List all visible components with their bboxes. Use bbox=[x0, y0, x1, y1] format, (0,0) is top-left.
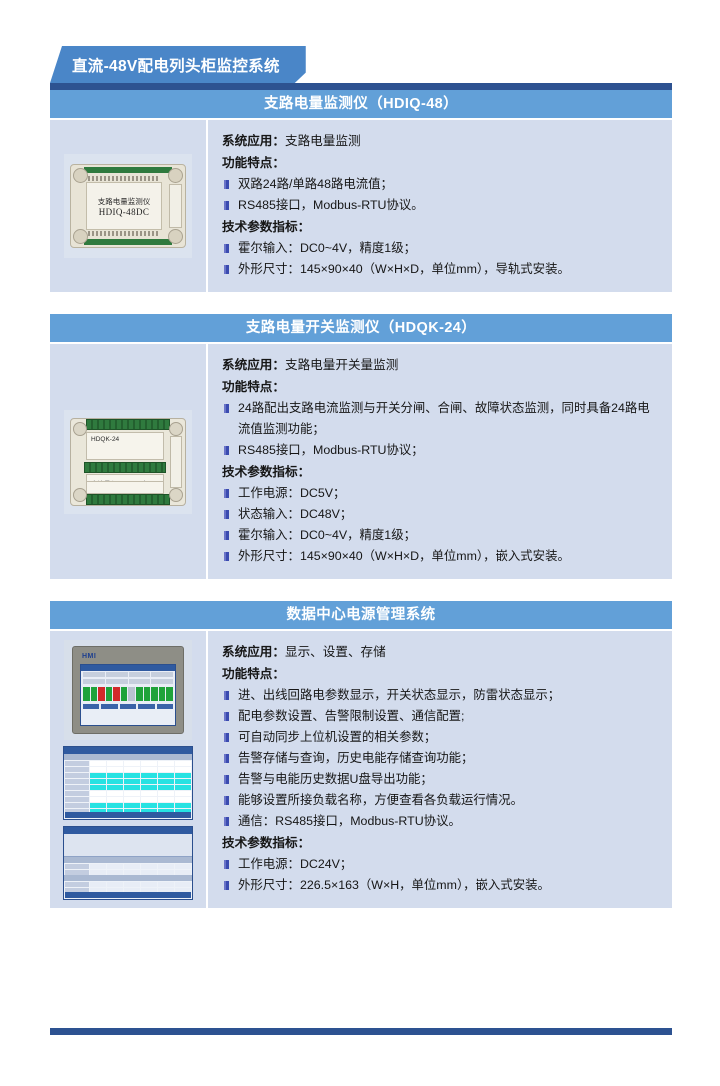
section-header-hdiq-48: 支路电量监测仪（HDIQ-48） bbox=[50, 90, 672, 118]
feature-item: 告警与电能历史数据U盘导出功能； bbox=[222, 769, 658, 790]
settings-column-header bbox=[64, 857, 192, 863]
features-label: 功能特点： bbox=[222, 152, 658, 174]
hmi-chip bbox=[106, 679, 128, 684]
bullet-square-icon bbox=[224, 265, 229, 274]
bullet-square-icon bbox=[224, 201, 229, 210]
feature-item: 能够设置所接负载名称，方便查看各负载运行情况。 bbox=[222, 790, 658, 811]
device-bottom-connector bbox=[84, 239, 172, 245]
hmi-chip bbox=[151, 679, 173, 684]
section-body-hdqk-24: HDQK-24 电流量程：100A/路 系统应用：支路电量开关量监测 功能特点：… bbox=[50, 342, 672, 579]
hmi-touch-panel-photo: HMI bbox=[64, 640, 192, 740]
table-row-label bbox=[65, 803, 89, 808]
feature-item: 24路配出支路电流监测与开关分闸、合闸、故障状态监测，同时具备24路电流值监测功… bbox=[222, 398, 658, 440]
spec-item: 状态输入：DC48V； bbox=[222, 504, 658, 525]
spec-item: 工作电源：DC5V； bbox=[222, 483, 658, 504]
settings-row bbox=[64, 870, 192, 875]
hmi-chip bbox=[83, 679, 105, 684]
device-side-slot bbox=[169, 184, 182, 228]
hmi-chip bbox=[83, 672, 105, 677]
feature-text: 可自动同步上位机设置的相关参数； bbox=[238, 727, 658, 748]
feature-item: RS485接口，Modbus-RTU协议； bbox=[222, 440, 658, 461]
bullet-square-icon bbox=[224, 817, 229, 826]
section-header-hdqk-24: 支路电量开关监测仪（HDQK-24） bbox=[50, 314, 672, 342]
table-row-highlighted bbox=[64, 803, 192, 808]
section-body-hdiq-48: 支路电量监测仪 HDIQ-48DC 系统应用：支路电量监测 功能特点： 双路24… bbox=[50, 118, 672, 292]
table-row bbox=[64, 767, 192, 772]
feature-text: 告警与电能历史数据U盘导出功能； bbox=[238, 769, 658, 790]
hdqk-24-device-photo: HDQK-24 电流量程：100A/路 bbox=[64, 410, 192, 514]
device-mount-lug-tl bbox=[73, 422, 87, 436]
feature-item: RS485接口，Modbus-RTU协议。 bbox=[222, 195, 658, 216]
device-label-plate: HDQK-24 bbox=[86, 432, 164, 460]
bullet-square-icon bbox=[224, 552, 229, 561]
settings-row bbox=[64, 882, 192, 887]
table-column-header bbox=[64, 754, 192, 760]
page-footer-rule bbox=[50, 1028, 672, 1035]
device-top-connector bbox=[84, 167, 172, 173]
hmi-bar-idle bbox=[128, 687, 135, 701]
settings-row-label bbox=[65, 870, 89, 875]
device-side-slot bbox=[170, 436, 182, 488]
bullet-square-icon bbox=[224, 881, 229, 890]
hmi-nav-button bbox=[83, 704, 99, 709]
hdiq-48dc-device-photo: 支路电量监测仪 HDIQ-48DC bbox=[64, 154, 192, 258]
device-mount-lug-tr bbox=[168, 168, 183, 183]
table-row bbox=[64, 797, 192, 802]
spec-text: 霍尔输入：DC0~4V，精度1级； bbox=[238, 525, 658, 546]
hmi-chip bbox=[129, 679, 151, 684]
specs-label: 技术参数指标： bbox=[222, 832, 658, 854]
spec-item: 外形尺寸：145×90×40（W×H×D，单位mm），导轨式安装。 bbox=[222, 259, 658, 280]
bullet-square-icon bbox=[224, 775, 229, 784]
spec-item: 外形尺寸：226.5×163（W×H，单位mm），嵌入式安装。 bbox=[222, 875, 658, 896]
product-image-cell-hdiq-48: 支路电量监测仪 HDIQ-48DC bbox=[50, 120, 208, 292]
feature-text: 能够设置所接负载名称，方便查看各负载运行情况。 bbox=[238, 790, 658, 811]
device-label-line1: 支路电量监测仪 bbox=[98, 196, 151, 207]
bullet-square-icon bbox=[224, 244, 229, 253]
table-row bbox=[64, 791, 192, 796]
settings-form-area bbox=[64, 834, 192, 857]
spec-text: 工作电源：DC24V； bbox=[238, 854, 658, 875]
device-mount-lug-bl bbox=[73, 488, 87, 502]
device-mount-lug-tl bbox=[73, 168, 88, 183]
feature-item: 通信：RS485接口，Modbus-RTU协议。 bbox=[222, 811, 658, 832]
feature-text: RS485接口，Modbus-RTU协议。 bbox=[238, 195, 658, 216]
hmi-bar bbox=[159, 687, 166, 701]
bullet-square-icon bbox=[224, 180, 229, 189]
application-value: 支路电量监测 bbox=[285, 134, 361, 148]
hmi-bar bbox=[106, 687, 113, 701]
product-text-cell-power-management: 系统应用：显示、设置、存储 功能特点： 进、出线回路电参数显示，开关状态显示，防… bbox=[208, 631, 672, 908]
device-terminal-top bbox=[86, 419, 170, 430]
application-value: 支路电量开关量监测 bbox=[285, 358, 398, 372]
table-row-label bbox=[65, 791, 89, 796]
table-row-label bbox=[65, 767, 89, 772]
section-body-power-management: HMI bbox=[50, 629, 672, 908]
page-title: 直流-48V配电列头柜监控系统 bbox=[50, 46, 306, 83]
spec-text: 霍尔输入：DC0~4V，精度1级； bbox=[238, 238, 658, 259]
feature-item: 双路24路/单路48路电流值； bbox=[222, 174, 658, 195]
hmi-brand-logo: HMI bbox=[82, 653, 96, 660]
table-row-highlighted bbox=[64, 773, 192, 778]
hmi-bar-alarm bbox=[113, 687, 120, 701]
hmi-nav-button bbox=[101, 704, 117, 709]
features-label: 功能特点： bbox=[222, 376, 658, 398]
settings-titlebar bbox=[64, 827, 192, 834]
hmi-chip bbox=[151, 672, 173, 677]
device-mount-lug-br bbox=[168, 229, 183, 244]
hmi-screen bbox=[80, 664, 176, 726]
feature-text: 进、出线回路电参数显示，开关状态显示，防雷状态显示； bbox=[238, 685, 658, 706]
table-row-label bbox=[65, 785, 89, 790]
product-image-cell-hdqk-24: HDQK-24 电流量程：100A/路 bbox=[50, 344, 208, 579]
bullet-square-icon bbox=[224, 510, 229, 519]
hmi-screen-buttons bbox=[81, 703, 175, 710]
feature-item: 告警存储与查询，历史电能存储查询功能； bbox=[222, 748, 658, 769]
spec-item: 霍尔输入：DC0~4V，精度1级； bbox=[222, 525, 658, 546]
bullet-square-icon bbox=[224, 796, 229, 805]
application-value: 显示、设置、存储 bbox=[285, 645, 386, 659]
hmi-chip bbox=[106, 672, 128, 677]
table-row-label bbox=[65, 773, 89, 778]
device-label-plate: 支路电量监测仪 HDIQ-48DC bbox=[86, 182, 162, 230]
bullet-square-icon bbox=[224, 860, 229, 869]
feature-item: 可自动同步上位机设置的相关参数； bbox=[222, 727, 658, 748]
feature-text: 双路24路/单路48路电流值； bbox=[238, 174, 658, 195]
spec-item: 霍尔输入：DC0~4V，精度1级； bbox=[222, 238, 658, 259]
feature-item: 配电参数设置、告警限制设置、通信配置; bbox=[222, 706, 658, 727]
spec-text: 工作电源：DC5V； bbox=[238, 483, 658, 504]
device-pin-row-top bbox=[88, 176, 158, 181]
specs-label: 技术参数指标： bbox=[222, 461, 658, 483]
application-line: 系统应用：显示、设置、存储 bbox=[222, 641, 658, 663]
device-terminal-bottom bbox=[86, 494, 170, 505]
hmi-bar bbox=[136, 687, 143, 701]
spec-text: 外形尺寸：145×90×40（W×H×D，单位mm），导轨式安装。 bbox=[238, 259, 658, 280]
energy-data-table-screenshot bbox=[63, 746, 193, 820]
settings-row-label bbox=[65, 882, 89, 887]
hmi-bar bbox=[166, 687, 173, 701]
product-block-hdqk-24: 支路电量开关监测仪（HDQK-24） HDQK-24 电流量程：100A/路 bbox=[50, 314, 672, 579]
device-label-line2: HDIQ-48DC bbox=[99, 207, 150, 217]
product-block-power-management-system: 数据中心电源管理系统 HMI bbox=[50, 601, 672, 908]
device-terminal-middle bbox=[84, 462, 166, 473]
hmi-chip bbox=[129, 672, 151, 677]
feature-text: 配电参数设置、告警限制设置、通信配置; bbox=[238, 706, 658, 727]
application-line: 系统应用：支路电量开关量监测 bbox=[222, 354, 658, 376]
feature-text: 24路配出支路电流监测与开关分闸、合闸、故障状态监测，同时具备24路电流值监测功… bbox=[238, 398, 658, 440]
application-label: 系统应用： bbox=[222, 134, 285, 148]
application-line: 系统应用：支路电量监测 bbox=[222, 130, 658, 152]
settings-screenshot bbox=[63, 826, 193, 900]
specs-label: 技术参数指标： bbox=[222, 216, 658, 238]
banner-rule bbox=[50, 83, 672, 90]
product-text-cell-hdiq-48: 系统应用：支路电量监测 功能特点： 双路24路/单路48路电流值； RS485接… bbox=[208, 120, 672, 292]
bullet-square-icon bbox=[224, 754, 229, 763]
application-label: 系统应用： bbox=[222, 358, 285, 372]
hmi-nav-button bbox=[120, 704, 136, 709]
device-pin-row-bottom bbox=[88, 231, 158, 236]
bullet-square-icon bbox=[224, 489, 229, 498]
spec-item: 外形尺寸：145×90×40（W×H×D，单位mm），嵌入式安装。 bbox=[222, 546, 658, 567]
spec-item: 工作电源：DC24V； bbox=[222, 854, 658, 875]
section-header-power-management: 数据中心电源管理系统 bbox=[50, 601, 672, 629]
product-image-cell-hmi: HMI bbox=[50, 631, 208, 908]
spec-text: 外形尺寸：145×90×40（W×H×D，单位mm），嵌入式安装。 bbox=[238, 546, 658, 567]
device-mount-lug-bl bbox=[73, 229, 88, 244]
hmi-screen-row bbox=[81, 678, 175, 685]
hmi-circuit-bar-graph bbox=[81, 685, 175, 703]
device-mount-lug-br bbox=[169, 488, 183, 502]
application-label: 系统应用： bbox=[222, 645, 285, 659]
feature-text: 通信：RS485接口，Modbus-RTU协议。 bbox=[238, 811, 658, 832]
hmi-bar-alarm bbox=[98, 687, 105, 701]
hmi-nav-button bbox=[138, 704, 154, 709]
settings-column-header bbox=[64, 875, 192, 881]
device-mount-lug-tr bbox=[169, 422, 183, 436]
table-row-label bbox=[65, 779, 89, 784]
table-toolbar bbox=[65, 812, 191, 818]
spec-text: 状态输入：DC48V； bbox=[238, 504, 658, 525]
features-label: 功能特点： bbox=[222, 663, 658, 685]
settings-row-label bbox=[65, 864, 89, 869]
feature-text: RS485接口，Modbus-RTU协议； bbox=[238, 440, 658, 461]
bullet-square-icon bbox=[224, 691, 229, 700]
feature-text: 告警存储与查询，历史电能存储查询功能； bbox=[238, 748, 658, 769]
table-titlebar bbox=[64, 747, 192, 754]
settings-toolbar bbox=[65, 892, 191, 898]
bullet-square-icon bbox=[224, 712, 229, 721]
bullet-square-icon bbox=[224, 404, 229, 413]
device-label-line1: HDQK-24 bbox=[87, 433, 163, 443]
hmi-bar bbox=[91, 687, 98, 701]
hmi-bar bbox=[83, 687, 90, 701]
spec-text: 外形尺寸：226.5×163（W×H，单位mm），嵌入式安装。 bbox=[238, 875, 658, 896]
hmi-bar bbox=[151, 687, 158, 701]
bullet-square-icon bbox=[224, 531, 229, 540]
product-block-hdiq-48: 支路电量监测仪（HDIQ-48） 支路电量监测仪 HDIQ-48DC bbox=[50, 90, 672, 292]
bullet-square-icon bbox=[224, 446, 229, 455]
settings-row bbox=[64, 864, 192, 869]
product-text-cell-hdqk-24: 系统应用：支路电量开关量监测 功能特点： 24路配出支路电流监测与开关分闸、合闸… bbox=[208, 344, 672, 579]
page-banner: 直流-48V配电列头柜监控系统 bbox=[0, 46, 720, 90]
table-row bbox=[64, 761, 192, 766]
device-lower-plate bbox=[86, 481, 164, 494]
hmi-bar bbox=[121, 687, 128, 701]
table-row-highlighted bbox=[64, 785, 192, 790]
table-row-label bbox=[65, 797, 89, 802]
table-row-highlighted bbox=[64, 779, 192, 784]
bullet-square-icon bbox=[224, 733, 229, 742]
table-row-label bbox=[65, 761, 89, 766]
hmi-nav-button bbox=[157, 704, 173, 709]
feature-item: 进、出线回路电参数显示，开关状态显示，防雷状态显示； bbox=[222, 685, 658, 706]
hmi-screen-row bbox=[81, 671, 175, 678]
hmi-bar bbox=[144, 687, 151, 701]
